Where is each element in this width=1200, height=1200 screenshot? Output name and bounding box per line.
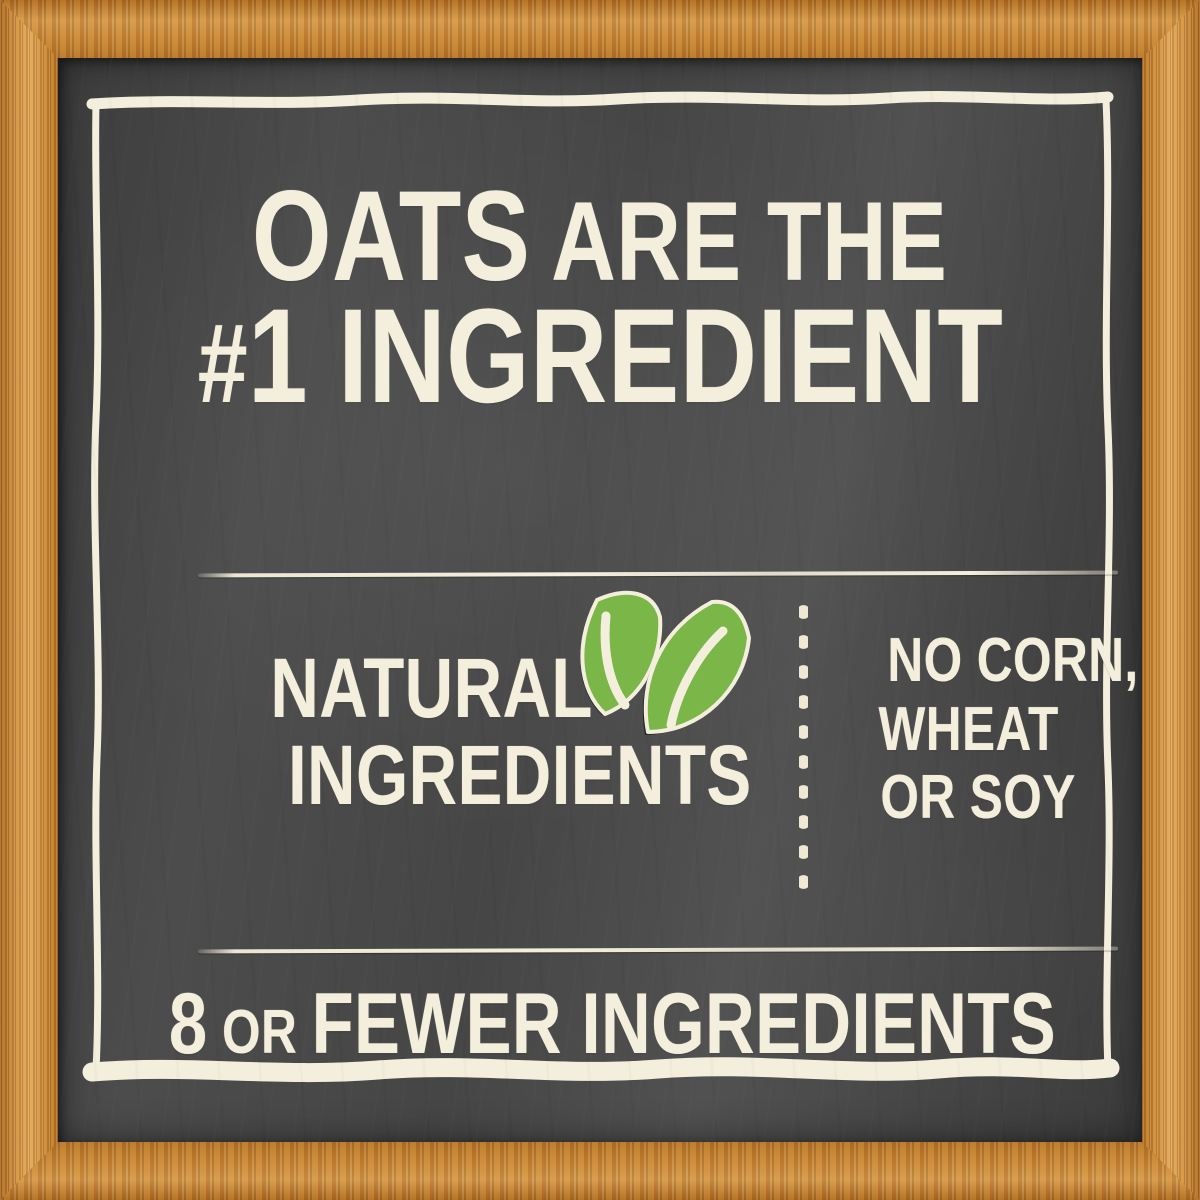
- chalk-divider-bottom: [198, 947, 1118, 954]
- bottom-text-row: 8ORFEWER INGREDIENTS: [58, 983, 1142, 1066]
- headline-block: OATSARE THE #1 INGREDIENT: [58, 176, 1142, 422]
- chalk-divider-top: [198, 571, 1118, 578]
- two-leaves-icon: [563, 583, 773, 768]
- headline-one-ingredient: 1 INGREDIENT: [247, 282, 1002, 431]
- bottom-rest: FEWER INGREDIENTS: [312, 976, 1057, 1072]
- headline-line-2: #1 INGREDIENT: [58, 293, 1142, 422]
- headline-hash-symbol: #: [197, 301, 247, 426]
- bottom-number: 8: [169, 976, 208, 1072]
- bottom-connector: OR: [222, 998, 297, 1067]
- nocorn-line-1: NO CORN,: [856, 631, 1142, 691]
- middle-claims-row: NATURAL INGREDIENTS: [58, 583, 1142, 943]
- vertical-dotted-divider: [799, 597, 808, 897]
- nocorn-line-3: OR SOY: [856, 768, 1142, 828]
- nocorn-line-2: WHEAT: [856, 700, 1142, 760]
- fewer-ingredients-claim: 8ORFEWER INGREDIENTS: [58, 983, 1142, 1066]
- wood-picture-frame: OATSARE THE #1 INGREDIENT NATURAL INGRED…: [0, 0, 1200, 1200]
- headline-line-1: OATSARE THE: [58, 176, 1142, 299]
- chalkboard-panel: OATSARE THE #1 INGREDIENT NATURAL INGRED…: [58, 58, 1142, 1142]
- no-corn-wheat-soy-claim: NO CORN, WHEAT OR SOY: [856, 631, 1142, 837]
